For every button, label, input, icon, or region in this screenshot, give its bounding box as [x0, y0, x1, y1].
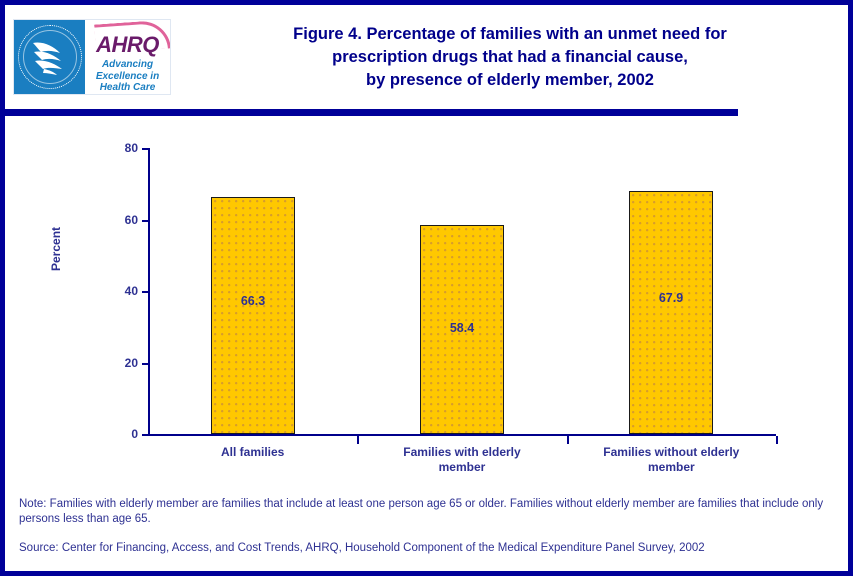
x-axis-category-label: All families [148, 445, 357, 460]
ahrq-tagline: Advancing Excellence in Health Care [85, 59, 170, 94]
y-axis-tick-label: 40 [100, 285, 138, 297]
figure-title-line-3: by presence of elderly member, 2002 [185, 69, 835, 92]
ahrq-tagline-line-2: Excellence in [85, 71, 170, 83]
bar-value-label: 58.4 [400, 321, 524, 335]
x-axis-category-label-line: member [567, 460, 776, 475]
figure-container: AHRQ Advancing Excellence in Health Care… [0, 0, 853, 576]
y-axis-title: Percent [49, 227, 63, 271]
header-divider [5, 109, 738, 116]
figure-header: AHRQ Advancing Excellence in Health Care… [5, 5, 848, 105]
x-axis-tick [776, 436, 778, 444]
x-axis-tick [567, 436, 569, 444]
x-axis-category-label: Families with elderlymember [357, 445, 566, 475]
ahrq-tagline-line-1: Advancing [85, 59, 170, 71]
figure-footer: Note: Families with elderly member are f… [19, 497, 837, 556]
x-axis-category-label-line: Families with elderly [357, 445, 566, 460]
hhs-seal-icon [14, 20, 85, 94]
figure-note: Note: Families with elderly member are f… [19, 497, 837, 527]
hhs-eagle-icon [27, 37, 73, 77]
y-axis-tick-label-wrap: 40 [5, 285, 149, 297]
y-axis-tick-label-wrap: 0 [5, 428, 149, 440]
bar [211, 197, 295, 434]
x-axis-category-label: Families without elderlymember [567, 445, 776, 475]
ahrq-acronym: AHRQ [85, 33, 170, 57]
bar-chart: Percent 020406080 66.358.467.9 All famil… [5, 116, 848, 491]
x-axis-category-label-line: All families [148, 445, 357, 460]
y-axis-tick-label-wrap: 60 [5, 214, 149, 226]
figure-title-line-2: prescription drugs that had a financial … [185, 46, 835, 69]
ahrq-wordmark: AHRQ Advancing Excellence in Health Care [85, 20, 170, 94]
figure-title-line-1: Figure 4. Percentage of families with an… [185, 23, 835, 46]
y-axis-tick-label: 80 [100, 142, 138, 154]
y-axis-tick-label-wrap: 80 [5, 142, 149, 154]
figure-title: Figure 4. Percentage of families with an… [185, 23, 835, 92]
ahrq-tagline-line-3: Health Care [85, 82, 170, 94]
bar [629, 191, 713, 434]
x-axis-line [148, 434, 776, 436]
bar-value-label: 67.9 [609, 291, 733, 305]
ahrq-logo: AHRQ Advancing Excellence in Health Care [13, 19, 171, 95]
y-axis-tick-label: 0 [100, 428, 138, 440]
y-axis-tick-label-wrap: 20 [5, 357, 149, 369]
y-axis-tick-label: 20 [100, 357, 138, 369]
x-axis-tick [357, 436, 359, 444]
figure-source: Source: Center for Financing, Access, an… [19, 541, 837, 556]
y-axis-tick-label: 60 [100, 214, 138, 226]
bar-value-label: 66.3 [191, 294, 315, 308]
x-axis-category-label-line: member [357, 460, 566, 475]
x-axis-category-label-line: Families without elderly [567, 445, 776, 460]
